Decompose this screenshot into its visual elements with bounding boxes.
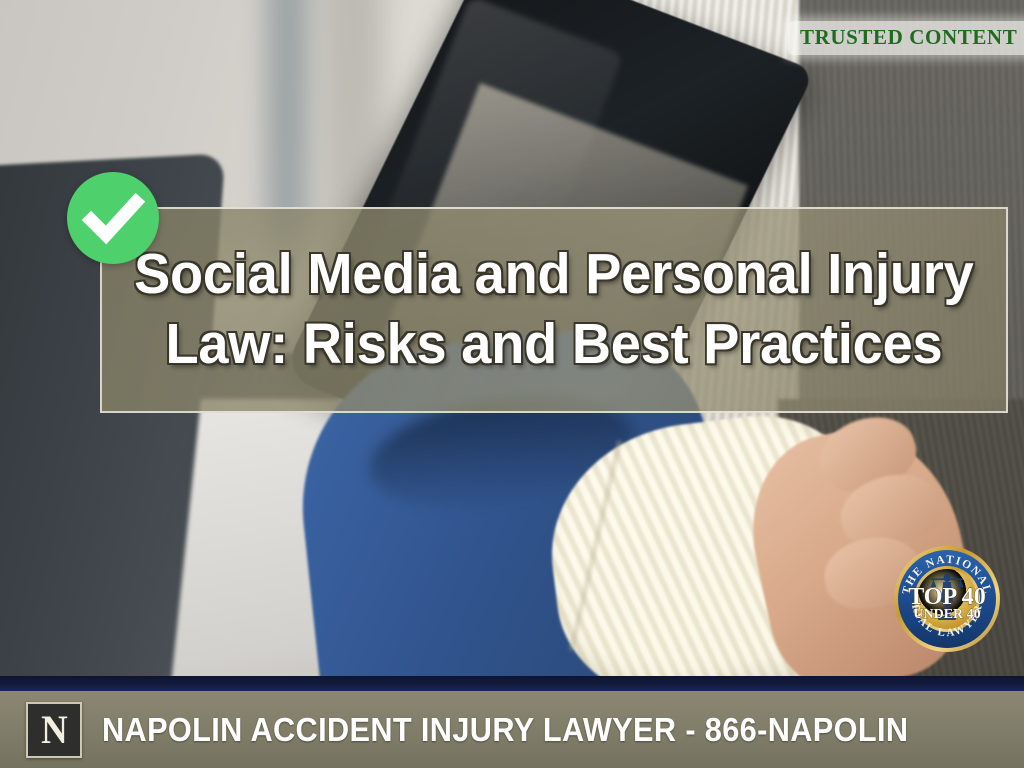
page-title-line-2: Law: Risks and Best Practices xyxy=(165,310,942,380)
hero-image-canvas: TRUSTED CONTENT Social Media and Persona… xyxy=(0,0,1024,768)
page-title-line-1: Social Media and Personal Injury xyxy=(134,240,974,310)
navy-accent-strip xyxy=(0,676,1024,691)
footer-headline: NAPOLIN ACCIDENT INJURY LAWYER - 866-NAP… xyxy=(102,711,908,749)
top-40-under-40-seal: THE NATIONAL TRIAL LAWYERS TOP 40 UNDER … xyxy=(893,545,1001,653)
green-check-badge-icon xyxy=(67,172,159,264)
napolin-n-logo: N xyxy=(26,702,82,758)
title-overlay-panel: Social Media and Personal Injury Law: Ri… xyxy=(100,207,1008,413)
seal-sub-text: UNDER 40 xyxy=(913,607,980,622)
footer-brand-bar: N NAPOLIN ACCIDENT INJURY LAWYER - 866-N… xyxy=(0,691,1024,768)
logo-letter: N xyxy=(41,710,67,750)
trusted-content-badge: TRUSTED CONTENT xyxy=(788,21,1024,55)
